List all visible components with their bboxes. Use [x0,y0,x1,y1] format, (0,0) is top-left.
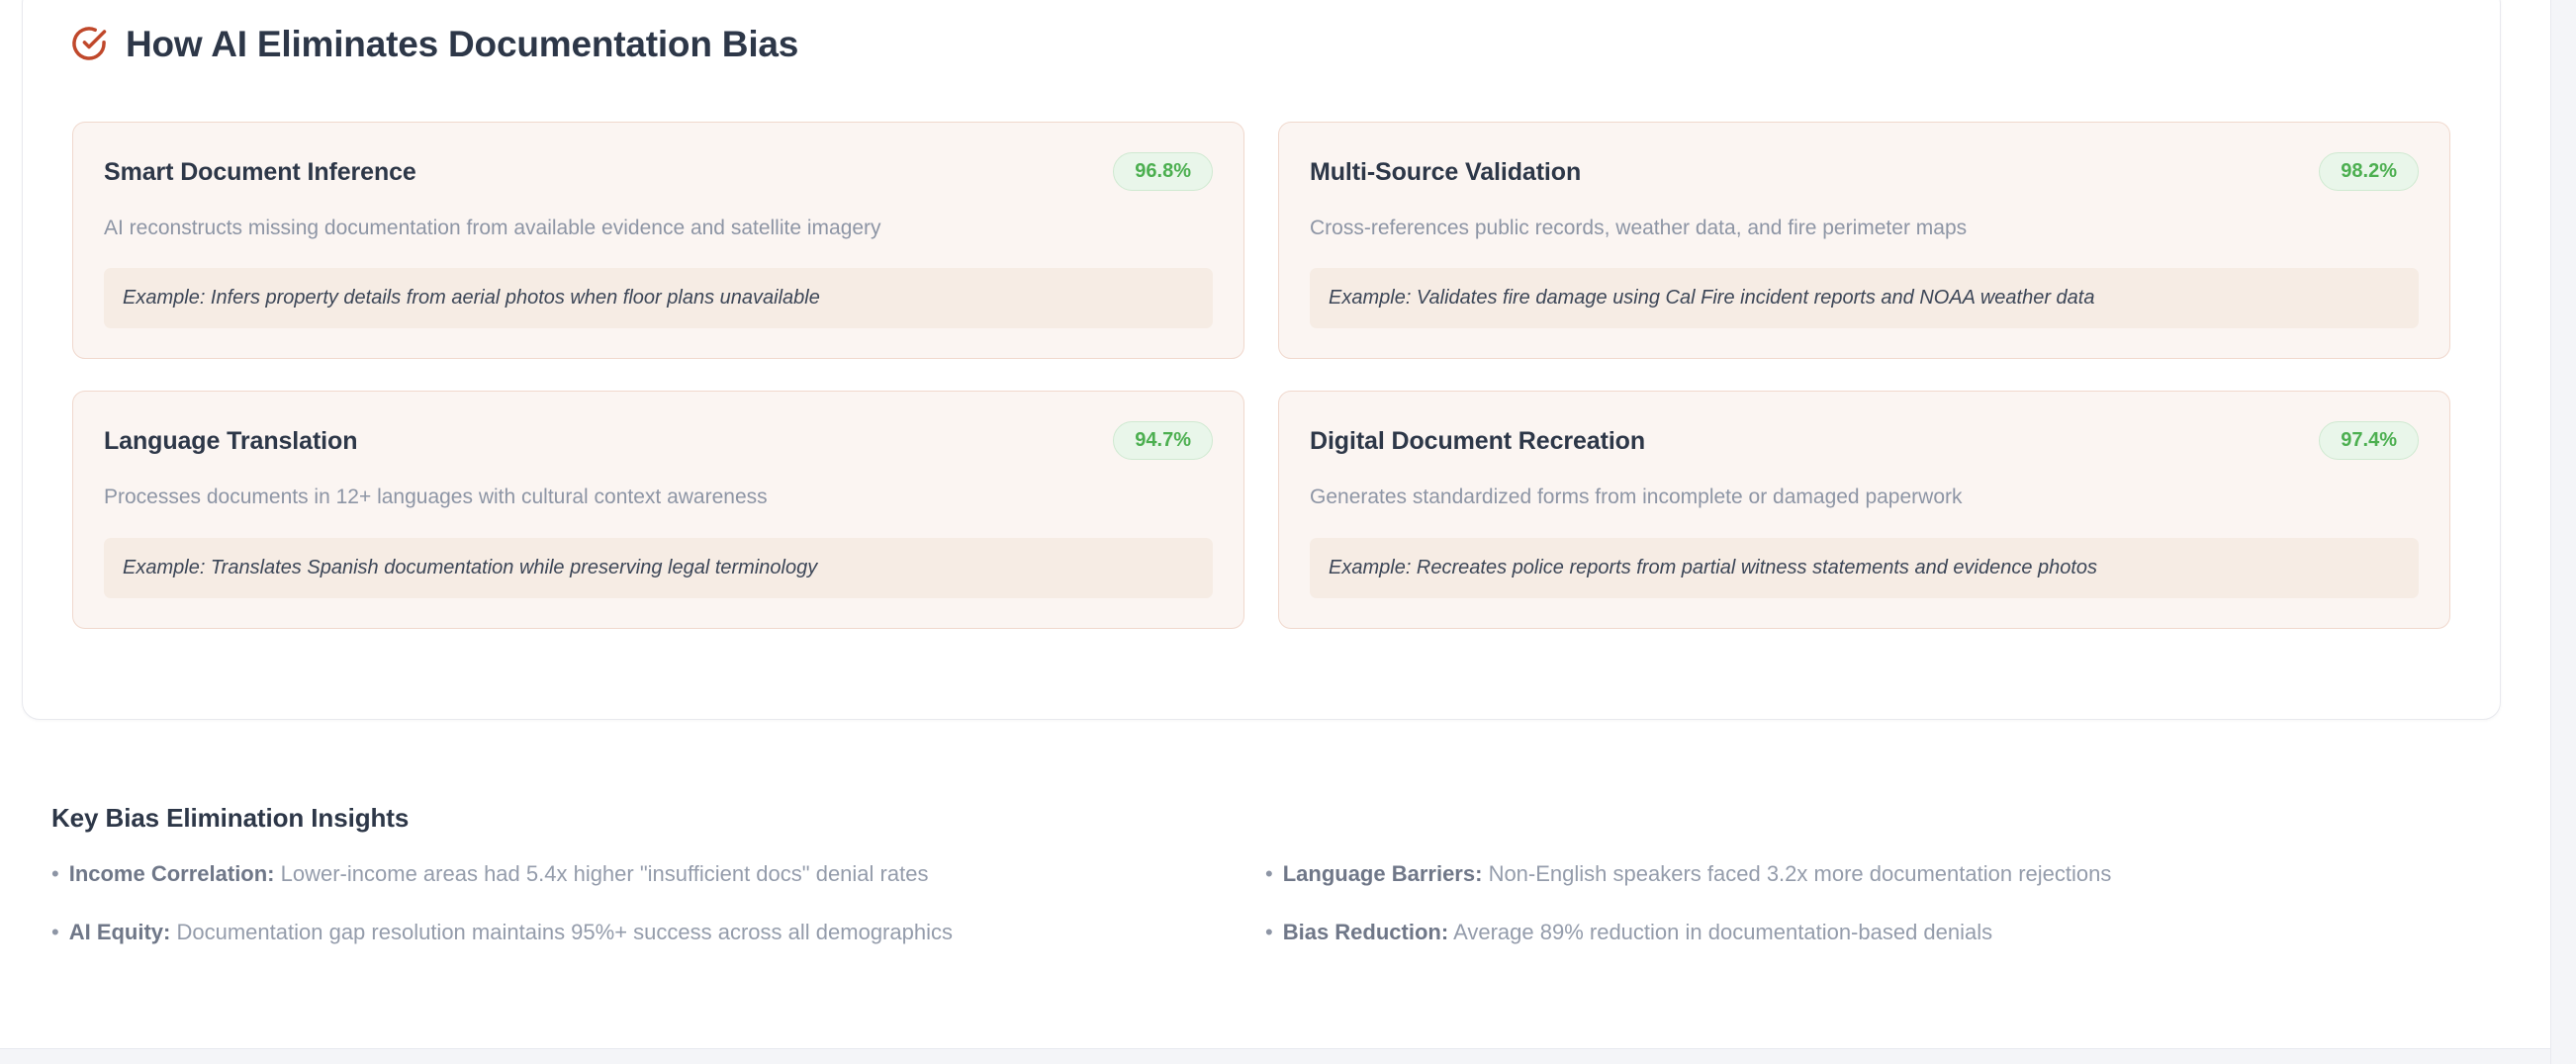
page-bottom-strip [0,1049,2550,1064]
insight-item-ai-equity: • AI Equity: Documentation gap resolutio… [51,919,1232,947]
capability-example: Example: Infers property details from ae… [104,268,1213,328]
capability-score-badge: 94.7% [1113,421,1213,460]
capability-card-multi-source-validation[interactable]: Multi-Source Validation 98.2% Cross-refe… [1278,122,2450,359]
insights-grid: • Income Correlation: Lower-income areas… [51,860,2445,946]
insight-item-income-correlation: • Income Correlation: Lower-income areas… [51,860,1232,889]
insight-text: Lower-income areas had 5.4x higher "insu… [281,861,929,886]
capability-card-header: Smart Document Inference 96.8% [104,152,1213,191]
page-root: How AI Eliminates Documentation Bias Sma… [0,0,2576,1064]
capability-description: Cross-references public records, weather… [1310,215,2419,242]
insight-label: Language Barriers: [1283,861,1483,886]
panel-header: How AI Eliminates Documentation Bias [70,25,798,62]
capability-card-language-translation[interactable]: Language Translation 94.7% Processes doc… [72,391,1244,628]
key-insights-section: Key Bias Elimination Insights • Income C… [51,803,2445,946]
capability-grid: Smart Document Inference 96.8% AI recons… [72,122,2450,629]
check-circle-icon [70,25,108,62]
capability-card-digital-document-recreation[interactable]: Digital Document Recreation 97.4% Genera… [1278,391,2450,628]
insights-title: Key Bias Elimination Insights [51,803,2445,834]
capability-score-badge: 96.8% [1113,152,1213,191]
capability-score-badge: 98.2% [2319,152,2419,191]
bullet-icon: • [51,922,59,943]
insight-label: Income Correlation: [69,861,275,886]
insight-text: Average 89% reduction in documentation-b… [1453,920,1992,944]
capability-description: AI reconstructs missing documentation fr… [104,215,1213,242]
capability-name: Smart Document Inference [104,157,416,187]
insight-item-bias-reduction: • Bias Reduction: Average 89% reduction … [1265,919,2445,947]
capability-card-header: Language Translation 94.7% [104,421,1213,460]
capability-name: Digital Document Recreation [1310,426,1645,456]
capability-example: Example: Validates fire damage using Cal… [1310,268,2419,328]
insight-item-language-barriers: • Language Barriers: Non-English speaker… [1265,860,2445,889]
capability-example: Example: Recreates police reports from p… [1310,538,2419,598]
bullet-icon: • [1265,922,1273,943]
capability-example: Example: Translates Spanish documentatio… [104,538,1213,598]
capability-card-header: Multi-Source Validation 98.2% [1310,152,2419,191]
documentation-bias-panel: How AI Eliminates Documentation Bias Sma… [22,0,2501,720]
vertical-scrollbar[interactable] [2550,0,2576,1064]
capability-name: Multi-Source Validation [1310,157,1581,187]
insight-text: Documentation gap resolution maintains 9… [177,920,953,944]
capability-card-header: Digital Document Recreation 97.4% [1310,421,2419,460]
page-title: How AI Eliminates Documentation Bias [126,26,798,62]
insight-label: Bias Reduction: [1283,920,1448,944]
bullet-icon: • [51,863,59,885]
capability-name: Language Translation [104,426,357,456]
capability-description: Processes documents in 12+ languages wit… [104,484,1213,511]
insight-text: Non-English speakers faced 3.2x more doc… [1489,861,2112,886]
capability-description: Generates standardized forms from incomp… [1310,484,2419,511]
bullet-icon: • [1265,863,1273,885]
capability-score-badge: 97.4% [2319,421,2419,460]
insight-label: AI Equity: [69,920,171,944]
capability-card-smart-document-inference[interactable]: Smart Document Inference 96.8% AI recons… [72,122,1244,359]
